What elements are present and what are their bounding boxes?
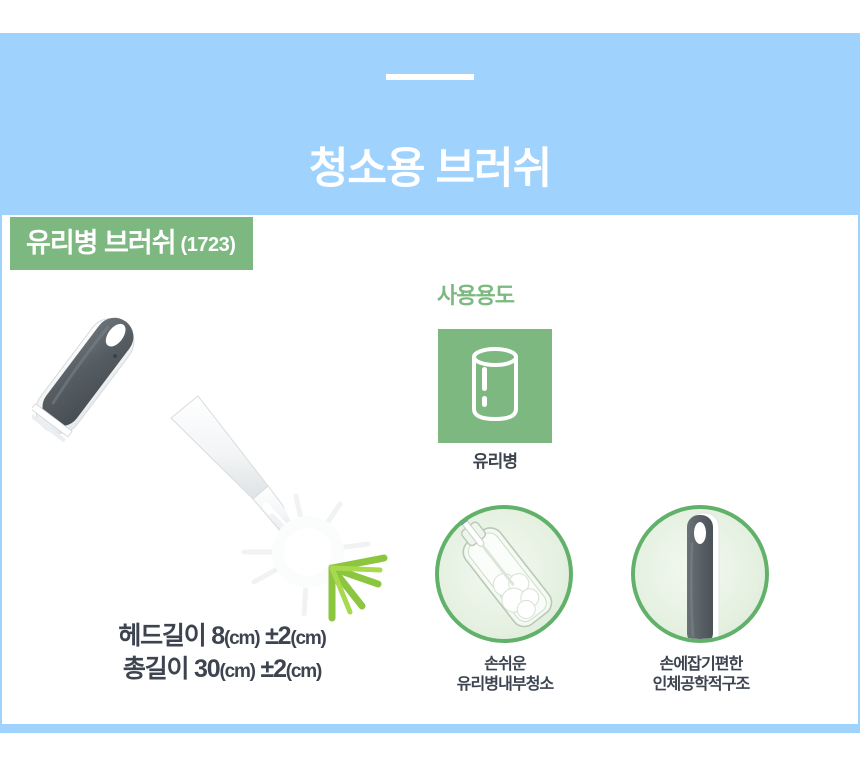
dimension-tolerance-head: 2 xyxy=(278,622,291,650)
dimension-unit-head: (cm) xyxy=(224,628,259,649)
section-label-code: (1723) xyxy=(181,235,236,255)
feature-caption-line1: 손에잡기편한 xyxy=(631,655,771,675)
dimension-tolerance-total: 2 xyxy=(273,655,286,683)
feature-item-easy-clean: 손쉬운 유리병내부청소 xyxy=(435,505,575,694)
content-card: 유리병 브러쉬 (1723) xyxy=(2,215,858,724)
feature-caption-line2: 인체공학적구조 xyxy=(631,675,771,695)
dimension-tolerance-unit-head: (cm) xyxy=(290,628,325,649)
dimension-row-total: 총길이 30(cm) ±2(cm) xyxy=(2,653,442,686)
dimension-tolerance-unit-total: (cm) xyxy=(286,661,321,682)
section-label: 유리병 브러쉬 (1723) xyxy=(10,217,253,270)
ergonomic-handle-icon xyxy=(631,505,769,643)
hero-banner: 청소용 브러쉬 xyxy=(0,33,860,215)
product-dimensions: 헤드길이 8(cm) ±2(cm) 총길이 30(cm) ±2(cm) xyxy=(2,620,442,686)
dimension-value-head: 8 xyxy=(211,622,224,650)
dimension-unit-total: (cm) xyxy=(219,661,254,682)
feature-caption-easy-clean: 손쉬운 유리병내부청소 xyxy=(435,655,575,694)
dimension-row-head: 헤드길이 8(cm) ±2(cm) xyxy=(2,620,442,653)
feature-item-ergonomic: 손에잡기편한 인체공학적구조 xyxy=(631,505,771,694)
feature-caption-line2: 유리병내부청소 xyxy=(435,675,575,695)
dimension-label-total: 총길이 xyxy=(123,655,188,683)
section-label-title: 유리병 브러쉬 xyxy=(26,230,176,257)
dimension-tolerance-sign-head: ± xyxy=(265,622,278,650)
dimension-label-head: 헤드길이 xyxy=(118,622,205,650)
product-image xyxy=(32,300,412,630)
feature-caption-ergonomic: 손에잡기편한 인체공학적구조 xyxy=(631,655,771,694)
glass-bottle-icon xyxy=(438,329,552,443)
product-detail-page: 청소용 브러쉬 유리병 브러쉬 (1723) xyxy=(0,0,860,775)
page-title: 청소용 브러쉬 xyxy=(0,148,860,191)
dimension-value-total: 30 xyxy=(194,655,219,683)
bottle-with-brush-icon xyxy=(435,505,573,643)
dimension-tolerance-sign-total: ± xyxy=(261,655,274,683)
usage-heading: 사용용도 xyxy=(437,285,514,307)
usage-caption: 유리병 xyxy=(438,453,552,470)
hero-divider-line xyxy=(386,74,474,80)
feature-caption-line1: 손쉬운 xyxy=(435,655,575,675)
